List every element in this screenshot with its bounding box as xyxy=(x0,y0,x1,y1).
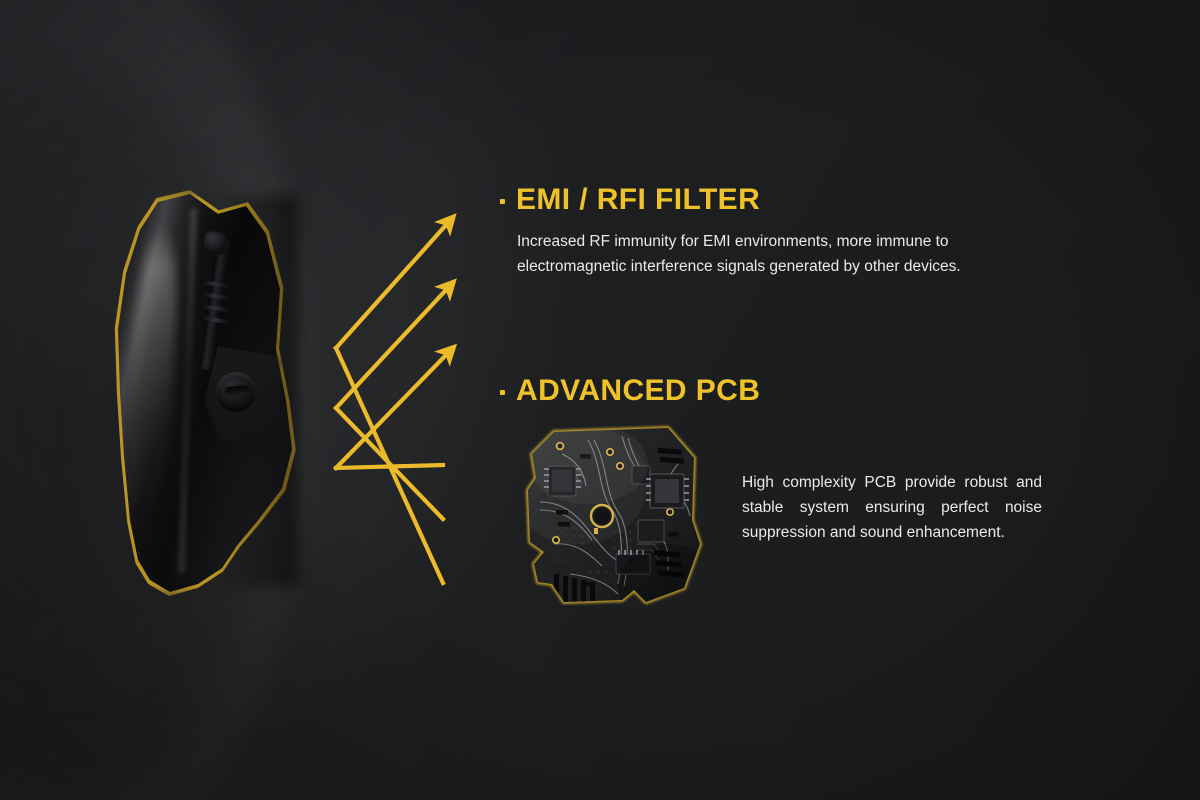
headset-earcup-image xyxy=(88,186,328,606)
feature-heading: EMI / RFI FILTER xyxy=(500,185,1060,215)
arrow-path-2-head xyxy=(336,290,446,408)
feature-description: High complexity PCB provide robust and s… xyxy=(742,470,1042,545)
bullet-dot-icon xyxy=(500,199,505,204)
feature-emi-rfi-filter: EMI / RFI FILTER Increased RF immunity f… xyxy=(500,185,1060,295)
feature-advanced-pcb: ADVANCED PCB High complexity PCB provide… xyxy=(500,376,1060,406)
feature-description: Increased RF immunity for EMI environmen… xyxy=(517,229,1057,279)
pcb-details xyxy=(518,424,708,606)
feature-title: EMI / RFI FILTER xyxy=(516,185,760,215)
bullet-dot-icon xyxy=(500,390,505,395)
feature-panel: EMI / RFI FILTER Increased RF immunity f… xyxy=(0,0,1200,800)
feature-title: ADVANCED PCB xyxy=(516,376,760,406)
signal-arrows-graphic xyxy=(300,180,500,620)
feature-heading: ADVANCED PCB xyxy=(500,376,1060,406)
arrow-path-3-head xyxy=(336,355,446,468)
arrow-path-3-tail xyxy=(336,465,443,468)
earcup-antenna-cap xyxy=(203,231,228,256)
arrow-path-1-head xyxy=(336,225,446,348)
advanced-pcb-image xyxy=(518,424,708,606)
